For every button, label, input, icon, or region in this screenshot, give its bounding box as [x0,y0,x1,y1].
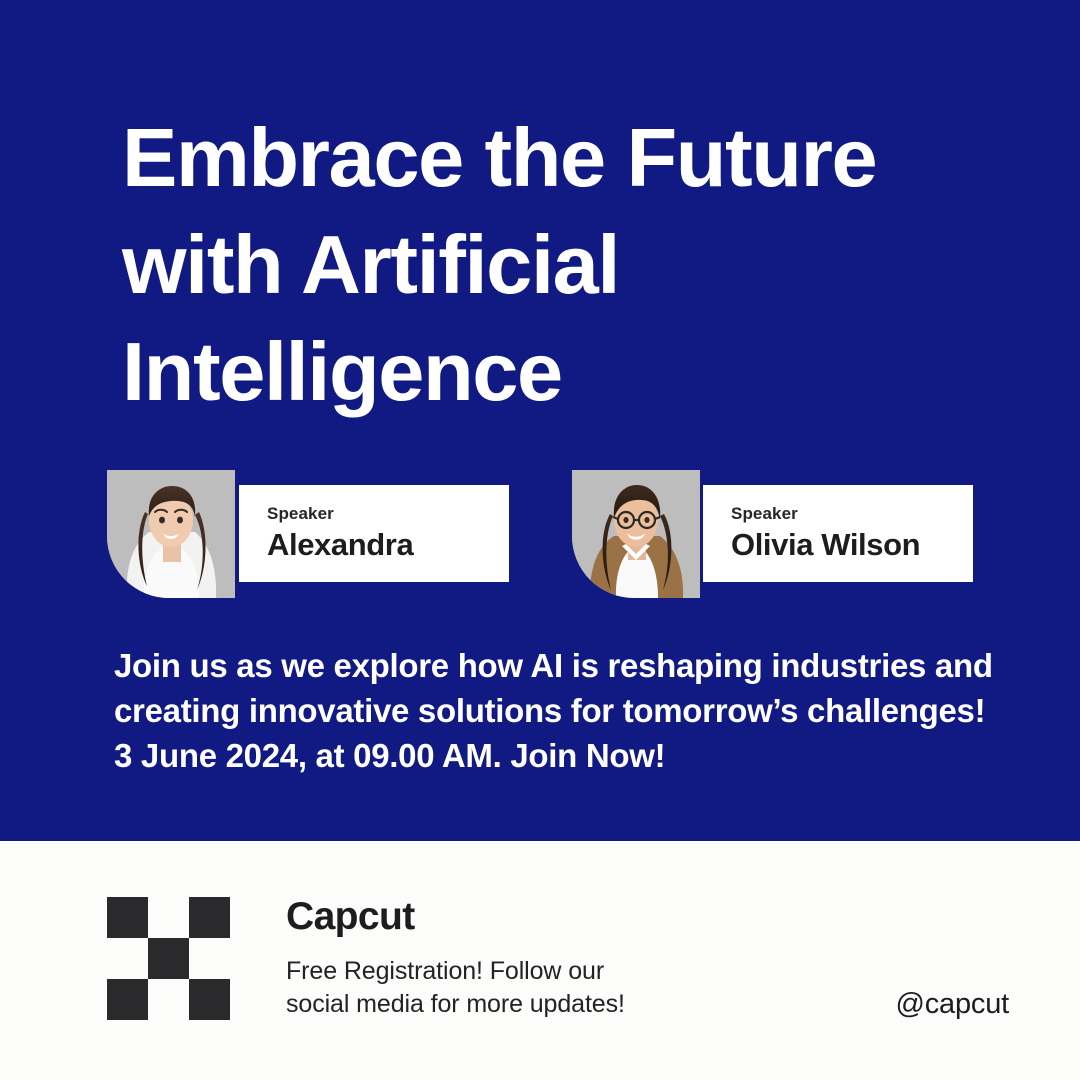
event-description: Join us as we explore how AI is reshapin… [114,643,994,778]
checkerboard-logo-icon [107,897,230,1020]
speaker-list: Speaker Alexandra [0,470,1080,600]
speaker-name: Alexandra [267,527,509,563]
footer-section: Capcut Free Registration! Follow our soc… [0,841,1080,1080]
speaker-role: Speaker [267,504,509,524]
avatar [107,470,235,598]
page-title: Embrace the Future with Artificial Intel… [122,104,1022,425]
avatar [572,470,700,598]
hero-section: Embrace the Future with Artificial Intel… [0,0,1080,841]
social-handle[interactable]: @capcut [896,987,1009,1021]
speaker-role: Speaker [731,504,973,524]
speaker-info: Speaker Olivia Wilson [703,485,973,582]
speaker-name: Olivia Wilson [731,527,973,563]
brand-block: Capcut Free Registration! Follow our soc… [286,893,756,1021]
event-poster: Embrace the Future with Artificial Intel… [0,0,1080,1080]
speaker-info: Speaker Alexandra [239,485,509,582]
brand-tagline: Free Registration! Follow our social med… [286,955,756,1021]
brand-name: Capcut [286,893,756,941]
